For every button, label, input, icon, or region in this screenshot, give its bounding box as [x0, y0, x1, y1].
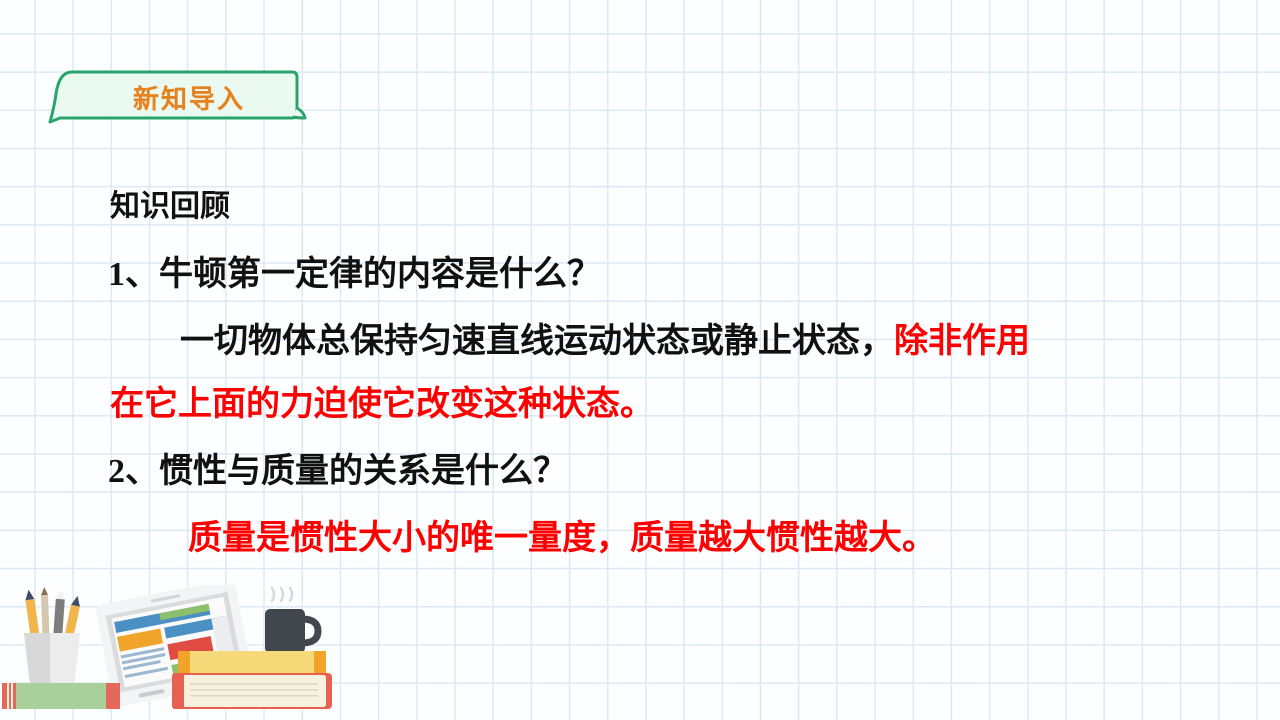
section-banner: 新知导入	[48, 68, 308, 126]
answer-1-black-part: 一切物体总保持匀速直线运动状态或静止状态，	[180, 323, 894, 360]
question-2: 2、惯性与质量的关系是什么？	[108, 455, 567, 489]
answer-2: 质量是惯性大小的唯一量度，质量越大惯性越大。	[110, 522, 936, 556]
banner-label: 新知导入	[48, 68, 308, 126]
slide-canvas: 新知导入 知识回顾 1、牛顿第一定律的内容是什么？ 一切物体总保持匀速直线运动状…	[0, 0, 1280, 720]
answer-1-line-2: 在它上面的力迫使它改变这种状态。	[110, 388, 654, 422]
answer-2-text: 质量是惯性大小的唯一量度，质量越大惯性越大。	[188, 520, 936, 557]
question-1: 1、牛顿第一定律的内容是什么？	[108, 258, 601, 292]
desk-scene-icon	[0, 585, 360, 720]
coffee-mug-icon	[265, 588, 318, 653]
review-heading: 知识回顾	[110, 192, 230, 222]
pencil-cup-icon	[24, 587, 82, 685]
answer-1-line-1: 一切物体总保持匀速直线运动状态或静止状态，除非作用	[110, 325, 1030, 359]
answer-1-red-part: 除非作用	[894, 323, 1030, 360]
desk-illustration	[0, 585, 360, 720]
